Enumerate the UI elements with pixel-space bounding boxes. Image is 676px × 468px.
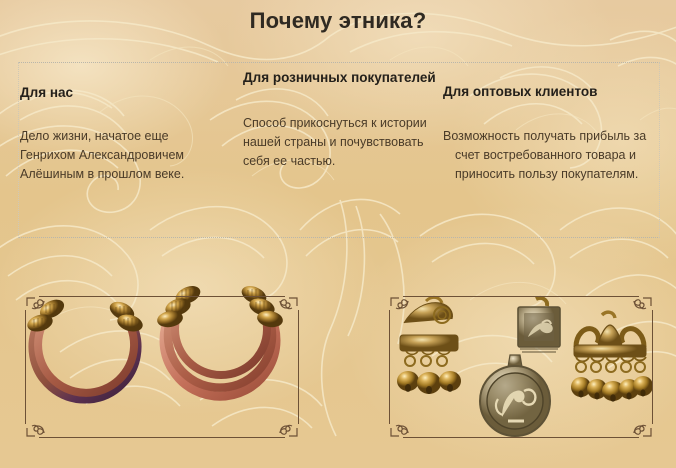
frame-line-left	[389, 310, 390, 424]
slide-title: Почему этника?	[0, 8, 676, 34]
frame-line-bottom	[403, 437, 639, 438]
frame-line-left	[25, 310, 26, 424]
frame-corner-icon	[25, 412, 51, 438]
column-body: Дело жизни, начатое еще Генрихом Алексан…	[20, 127, 215, 184]
column-heading: Для нас	[20, 85, 215, 100]
frame-corner-icon	[627, 296, 653, 322]
photo-pendants	[376, 283, 666, 451]
photo-frame-right	[389, 296, 653, 438]
photo-bracelets	[12, 283, 312, 451]
column-for-us: Для нас Дело жизни, начатое еще Генрихом…	[20, 85, 215, 184]
photo-frame-left	[25, 296, 299, 438]
frame-corner-icon	[25, 296, 51, 322]
column-body: Способ прикоснуться к истории нашей стра…	[243, 114, 443, 171]
frame-line-right	[652, 310, 653, 424]
frame-corner-icon	[273, 296, 299, 322]
column-for-retail-buyers: Для розничных покупателей Способ прикосн…	[243, 70, 443, 171]
column-heading: Для розничных покупателей	[243, 70, 443, 85]
frame-line-right	[298, 310, 299, 424]
column-for-wholesale-clients: Для оптовых клиентов Возможность получат…	[443, 84, 665, 184]
column-body: Возможность получать прибыль за счет вос…	[443, 127, 665, 184]
slide: Почему этника? Для нас Дело жизни, начат…	[0, 0, 676, 468]
frame-line-top	[39, 296, 285, 297]
frame-line-top	[403, 296, 639, 297]
column-heading: Для оптовых клиентов	[443, 84, 665, 99]
frame-corner-icon	[627, 412, 653, 438]
frame-line-bottom	[39, 437, 285, 438]
frame-corner-icon	[389, 412, 415, 438]
frame-corner-icon	[273, 412, 299, 438]
frame-corner-icon	[389, 296, 415, 322]
